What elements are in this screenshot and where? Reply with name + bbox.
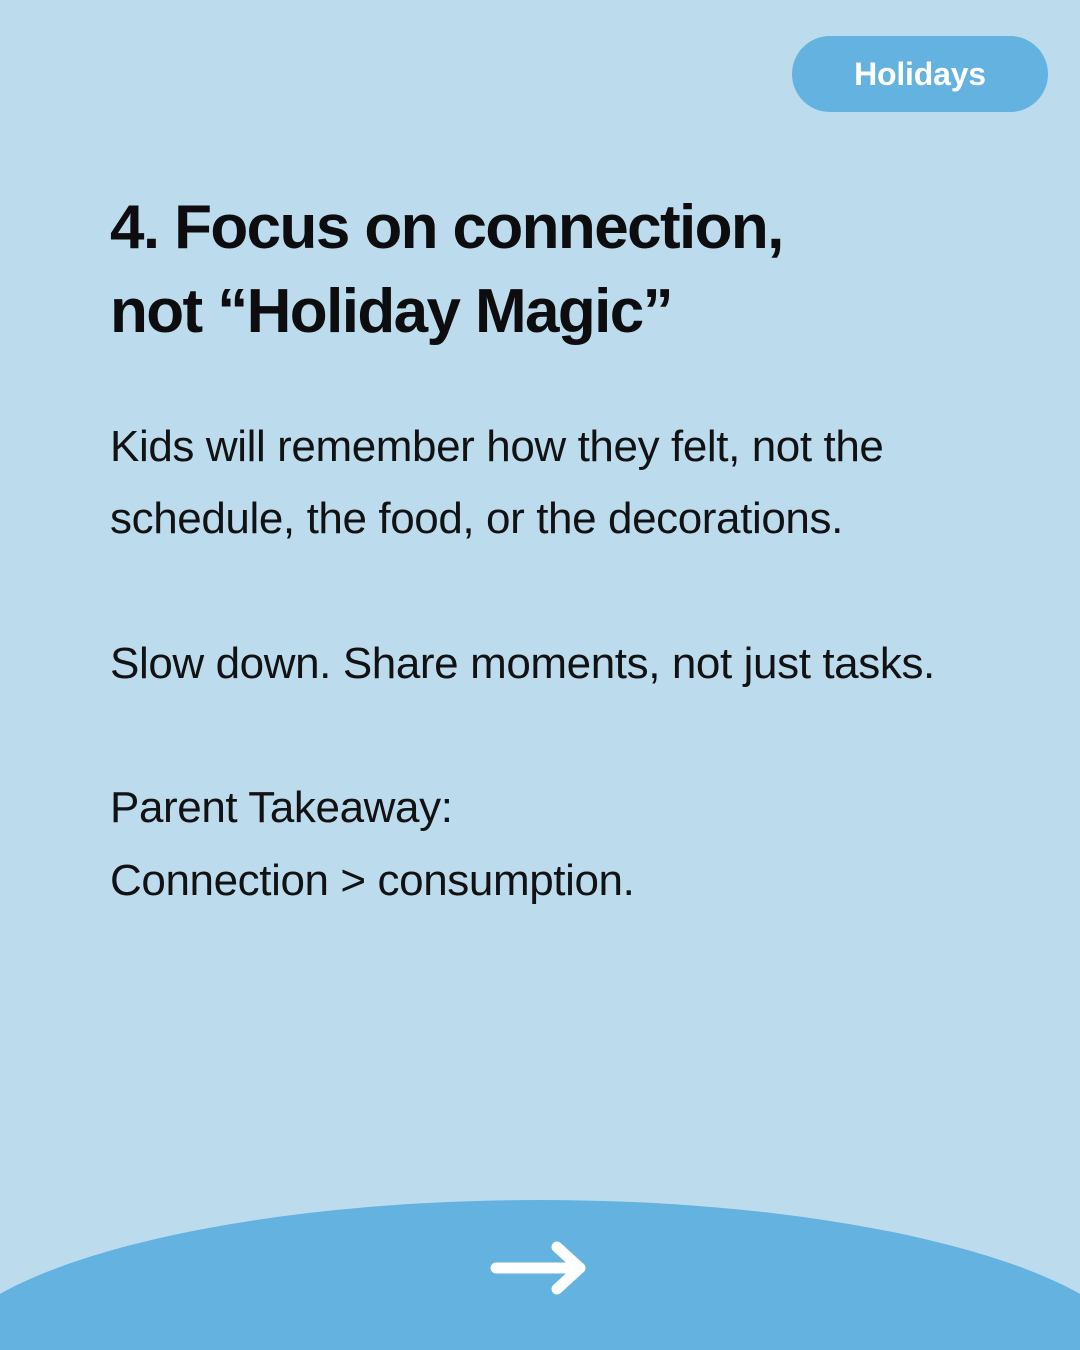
slide-canvas: Holidays 4. Focus on connection, not “Ho… xyxy=(0,0,1080,1350)
body-paragraph-2: Slow down. Share moments, not just tasks… xyxy=(110,628,970,701)
arrow-right-icon[interactable] xyxy=(488,1240,592,1296)
category-badge-label: Holidays xyxy=(854,58,986,90)
page-title: 4. Focus on connection, not “Holiday Mag… xyxy=(110,186,970,355)
body-paragraph-1: Kids will remember how they felt, not th… xyxy=(110,411,970,556)
body-paragraph-3: Parent Takeaway: Connection > consumptio… xyxy=(110,772,970,917)
slide-content: 4. Focus on connection, not “Holiday Mag… xyxy=(110,186,970,918)
category-badge[interactable]: Holidays xyxy=(792,36,1048,112)
